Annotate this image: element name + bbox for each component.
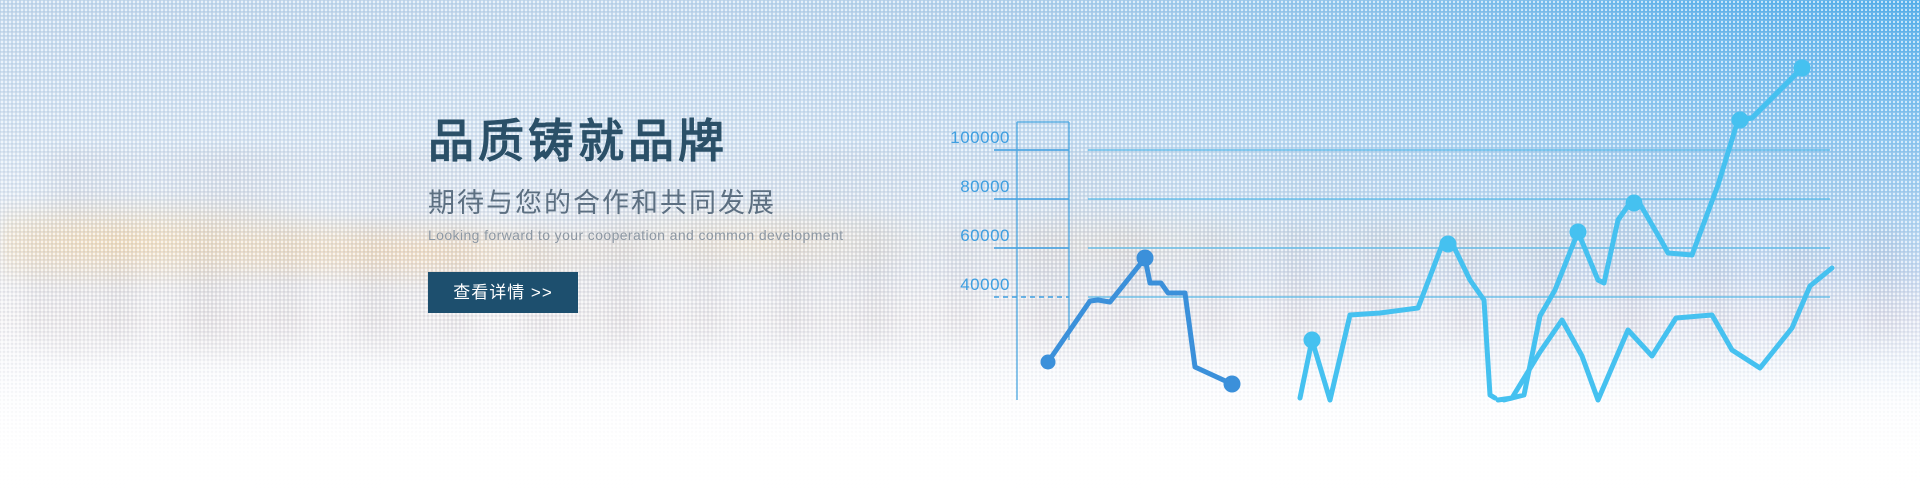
chart-series-1 <box>1048 258 1232 384</box>
y-tick-label: 60000 <box>960 226 1010 245</box>
data-point-marker <box>1794 60 1811 77</box>
data-point-marker <box>1224 376 1241 393</box>
view-details-button[interactable]: 查看详情 >> <box>428 272 578 313</box>
y-tick-label: 100000 <box>950 128 1010 147</box>
data-point-marker <box>1304 332 1321 349</box>
data-point-marker <box>1137 250 1154 267</box>
data-point-marker <box>1570 224 1587 241</box>
chart-series-1-markers <box>1041 250 1241 393</box>
data-point-marker <box>1732 112 1749 129</box>
chart-y-axis-labels: 100000 80000 60000 40000 <box>950 128 1010 294</box>
page-subtitle-en: Looking forward to your cooperation and … <box>428 228 898 242</box>
chart-series-4 <box>1498 268 1832 400</box>
data-point-marker <box>1626 195 1643 212</box>
y-tick-label: 80000 <box>960 177 1010 196</box>
hero-copy-block: 品质铸就品牌 期待与您的合作和共同发展 Looking forward to y… <box>428 118 898 313</box>
chart-series-2 <box>1300 243 1495 400</box>
data-point-marker <box>1440 236 1457 253</box>
y-tick-label: 40000 <box>960 275 1010 294</box>
chart-series-2-markers <box>1304 236 1457 349</box>
page-title: 品质铸就品牌 <box>428 118 898 164</box>
page-subtitle: 期待与您的合作和共同发展 <box>428 190 898 217</box>
chart-gridlines <box>1088 150 1830 297</box>
growth-line-chart: 100000 80000 60000 40000 <box>0 0 1920 500</box>
data-point-marker <box>1041 355 1056 370</box>
hero-banner: 100000 80000 60000 40000 <box>0 0 1920 500</box>
